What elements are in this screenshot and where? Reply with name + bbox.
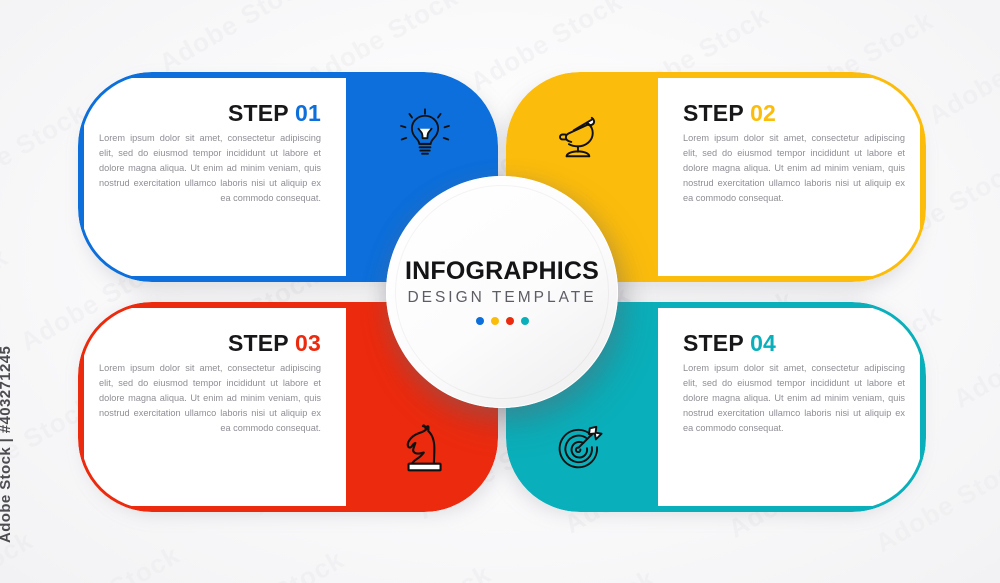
lightbulb-icon — [389, 99, 461, 171]
desk-lamp-icon — [543, 99, 615, 171]
step-text-block-03: STEP 03 Lorem ipsum dolor sit amet, cons… — [99, 331, 321, 436]
infographic-board: STEP 01 Lorem ipsum dolor sit amet, cons… — [78, 72, 926, 512]
stock-credit-label: Adobe Stock | #403271245 — [0, 346, 14, 543]
step-title-04: STEP 04 — [683, 331, 905, 356]
step-body-01: Lorem ipsum dolor sit amet, consectetur … — [99, 131, 321, 206]
center-hub: INFOGRAPHICS DESIGN TEMPLATE — [386, 176, 618, 408]
step-title-03: STEP 03 — [99, 331, 321, 356]
step-number: 02 — [750, 100, 776, 126]
step-body-04: Lorem ipsum dolor sit amet, consectetur … — [683, 361, 905, 436]
chess-knight-icon — [389, 413, 461, 485]
step-title-02: STEP 02 — [683, 101, 905, 126]
step-number: 04 — [750, 330, 776, 356]
step-text-block-04: STEP 04 Lorem ipsum dolor sit amet, cons… — [683, 331, 905, 436]
step-label: STEP — [228, 330, 288, 356]
step-label: STEP — [683, 330, 743, 356]
hub-inner-ring — [395, 185, 609, 399]
step-body-02: Lorem ipsum dolor sit amet, consectetur … — [683, 131, 905, 206]
step-label: STEP — [683, 100, 743, 126]
step-text-block-01: STEP 01 Lorem ipsum dolor sit amet, cons… — [99, 101, 321, 206]
step-number: 01 — [295, 100, 321, 126]
step-text-block-02: STEP 02 Lorem ipsum dolor sit amet, cons… — [683, 101, 905, 206]
step-label: STEP — [228, 100, 288, 126]
step-number: 03 — [295, 330, 321, 356]
infographic-canvas: Adobe StockAdobe StockAdobe StockAdobe S… — [0, 0, 1000, 583]
watermark-row: Adobe StockAdobe StockAdobe StockAdobe S… — [249, 556, 1000, 583]
target-arrow-icon — [543, 413, 615, 485]
step-body-03: Lorem ipsum dolor sit amet, consectetur … — [99, 361, 321, 436]
step-title-01: STEP 01 — [99, 101, 321, 126]
